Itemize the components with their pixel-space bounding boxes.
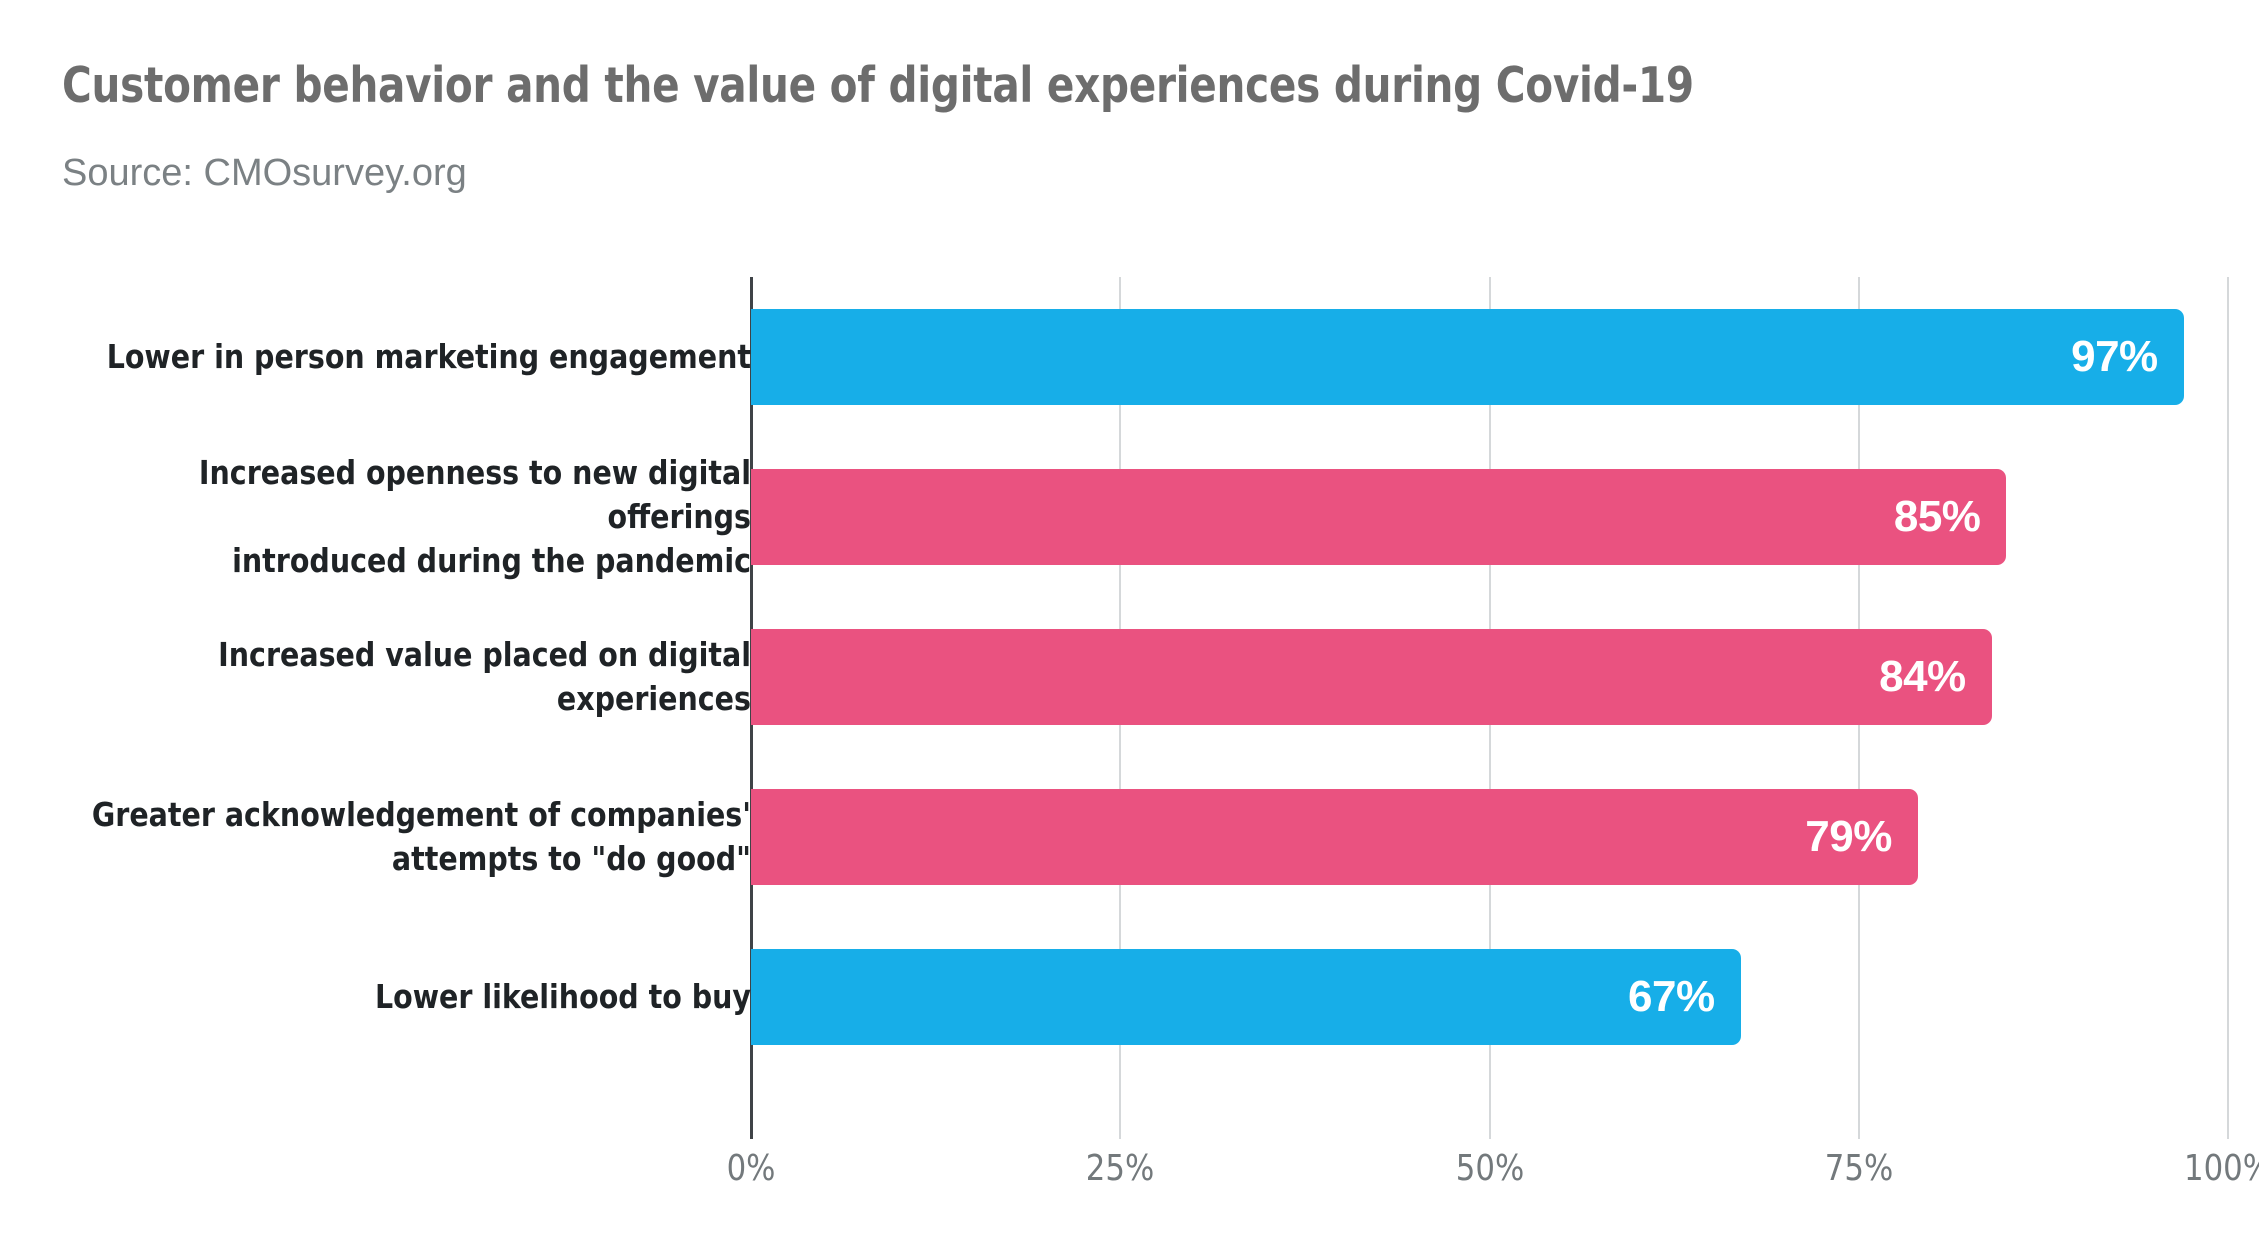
bar-row: Greater acknowledgement of companies' at… [0,757,2259,917]
bar-row: Increased value placed on digital experi… [0,597,2259,757]
bar[interactable]: 97% [751,309,2184,405]
category-label: Lower likelihood to buy [79,917,751,1077]
bar-row: Lower likelihood to buy67% [0,917,2259,1077]
bar-value-label: 97% [2071,335,2158,379]
x-tick-mark [1119,1123,1121,1139]
x-tick-label: 50% [1455,1148,1523,1190]
x-tick-label: 100% [2184,1148,2259,1190]
x-tick-label: 0% [727,1148,776,1190]
x-tick-label: 75% [1825,1148,1893,1190]
category-label: Greater acknowledgement of companies' at… [79,757,751,917]
bar-chart-figure: Customer behavior and the value of digit… [0,0,2259,1253]
x-tick-mark [1489,1123,1491,1139]
category-label: Lower in person marketing engagement [79,277,751,437]
bar-value-label: 67% [1628,975,1715,1019]
bar-value-label: 79% [1805,815,1892,859]
bar-row: Increased openness to new digital offeri… [0,437,2259,597]
category-label: Increased value placed on digital experi… [79,597,751,757]
plot-area: Lower in person marketing engagement97%I… [0,0,2259,1253]
category-label: Increased openness to new digital offeri… [79,437,751,597]
x-tick-mark [750,1123,753,1139]
bar[interactable]: 85% [751,469,2006,565]
bar-value-label: 84% [1879,655,1966,699]
bar-value-label: 85% [1894,495,1981,539]
x-tick-mark [1858,1123,1860,1139]
x-tick-mark [2227,1123,2229,1139]
bar[interactable]: 67% [751,949,1741,1045]
bar[interactable]: 79% [751,789,1918,885]
bar-row: Lower in person marketing engagement97% [0,277,2259,437]
bar[interactable]: 84% [751,629,1992,725]
x-tick-label: 25% [1086,1148,1154,1190]
